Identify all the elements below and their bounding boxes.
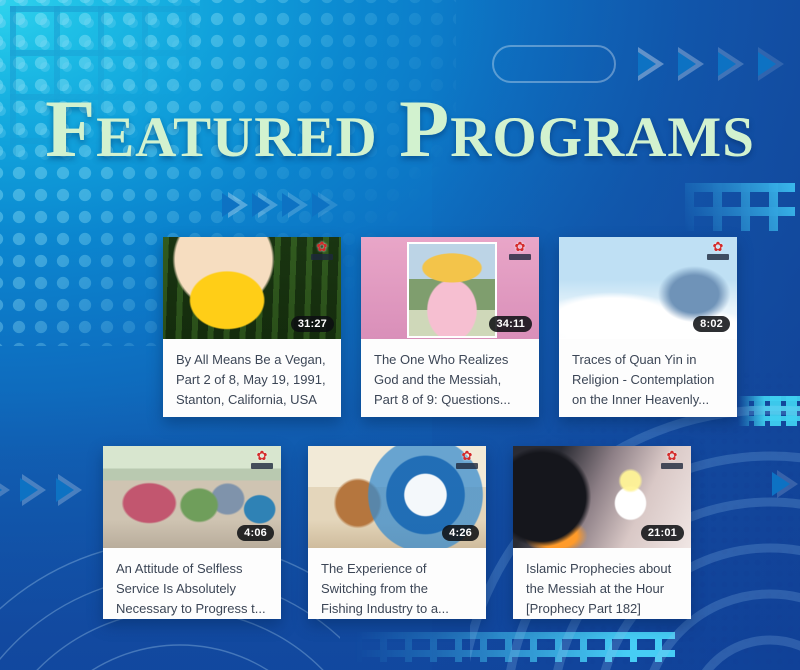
featured-programs-banner: Featured Programs ✿ 31:27 By All Means B… [0, 0, 800, 670]
program-card[interactable]: ✿ 8:02 Traces of Quan Yin in Religion - … [559, 237, 737, 417]
page-title: Featured Programs [0, 88, 800, 170]
program-thumbnail[interactable]: ✿ 31:27 [163, 237, 341, 339]
logo-tag [509, 254, 531, 260]
program-title: Islamic Prophecies about the Messiah at … [513, 548, 691, 619]
decor-row-top-right [492, 45, 784, 83]
decor-row-mid-left [228, 192, 338, 218]
logo-tag [661, 463, 683, 469]
duration-badge: 8:02 [693, 316, 730, 332]
play-triangle-icon [22, 474, 46, 506]
play-triangle-icon [758, 47, 784, 81]
logo-mark: ✿ [462, 450, 473, 462]
duration-badge: 4:26 [442, 525, 479, 541]
play-triangle-icon [318, 192, 338, 218]
supreme-master-tv-logo-icon: ✿ [659, 450, 685, 470]
play-triangle-icon [58, 474, 82, 506]
supreme-master-tv-logo-icon: ✿ [705, 241, 731, 261]
program-title: An Attitude of Selfless Service Is Absol… [103, 548, 281, 619]
square-dots-bottom-center-icon [355, 632, 675, 662]
decor-row-left-edge [0, 474, 82, 506]
supreme-master-tv-logo-icon: ✿ [454, 450, 480, 470]
supreme-master-tv-logo-icon: ✿ [249, 450, 275, 470]
play-triangle-icon [678, 47, 704, 81]
play-triangle-icon [777, 470, 798, 498]
program-thumbnail[interactable]: ✿ 34:11 [361, 237, 539, 339]
logo-mark: ✿ [713, 241, 724, 253]
duration-badge: 21:01 [641, 525, 684, 541]
program-card[interactable]: ✿ 31:27 By All Means Be a Vegan, Part 2 … [163, 237, 341, 417]
logo-mark: ✿ [667, 450, 678, 462]
logo-tag [251, 463, 273, 469]
decor-row-right-edge [777, 470, 798, 498]
program-thumbnail[interactable]: ✿ 8:02 [559, 237, 737, 339]
program-card[interactable]: ✿ 34:11 The One Who Realizes God and the… [361, 237, 539, 417]
thumbnail-inner-frame [407, 242, 496, 338]
logo-tag [707, 254, 729, 260]
program-thumbnail[interactable]: ✿ 4:06 [103, 446, 281, 548]
program-title: The One Who Realizes God and the Messiah… [361, 339, 539, 417]
equalizer-bars-icon [738, 396, 800, 426]
play-triangle-icon [228, 192, 248, 218]
square-dots-upper-right-icon [685, 183, 795, 231]
duration-badge: 4:06 [237, 525, 274, 541]
play-triangle-icon [638, 47, 664, 81]
program-title: The Experience of Switching from the Fis… [308, 548, 486, 619]
program-card[interactable]: ✿ 21:01 Islamic Prophecies about the Mes… [513, 446, 691, 619]
play-triangle-icon [258, 192, 278, 218]
play-triangle-icon [288, 192, 308, 218]
supreme-master-tv-logo-icon: ✿ [309, 241, 335, 261]
duration-badge: 34:11 [489, 316, 532, 332]
rounded-pill-outline-icon [492, 45, 616, 83]
play-triangle-icon [0, 474, 10, 506]
duration-badge: 31:27 [291, 316, 334, 332]
program-card[interactable]: ✿ 4:26 The Experience of Switching from … [308, 446, 486, 619]
program-title: Traces of Quan Yin in Religion - Contemp… [559, 339, 737, 417]
program-card[interactable]: ✿ 4:06 An Attitude of Selfless Service I… [103, 446, 281, 619]
play-triangle-icon [718, 47, 744, 81]
program-title: By All Means Be a Vegan, Part 2 of 8, Ma… [163, 339, 341, 417]
logo-mark: ✿ [515, 241, 526, 253]
program-thumbnail[interactable]: ✿ 21:01 [513, 446, 691, 548]
supreme-master-tv-logo-icon: ✿ [507, 241, 533, 261]
program-thumbnail[interactable]: ✿ 4:26 [308, 446, 486, 548]
logo-mark: ✿ [257, 450, 268, 462]
logo-mark: ✿ [317, 241, 328, 253]
logo-tag [311, 254, 333, 260]
logo-tag [456, 463, 478, 469]
